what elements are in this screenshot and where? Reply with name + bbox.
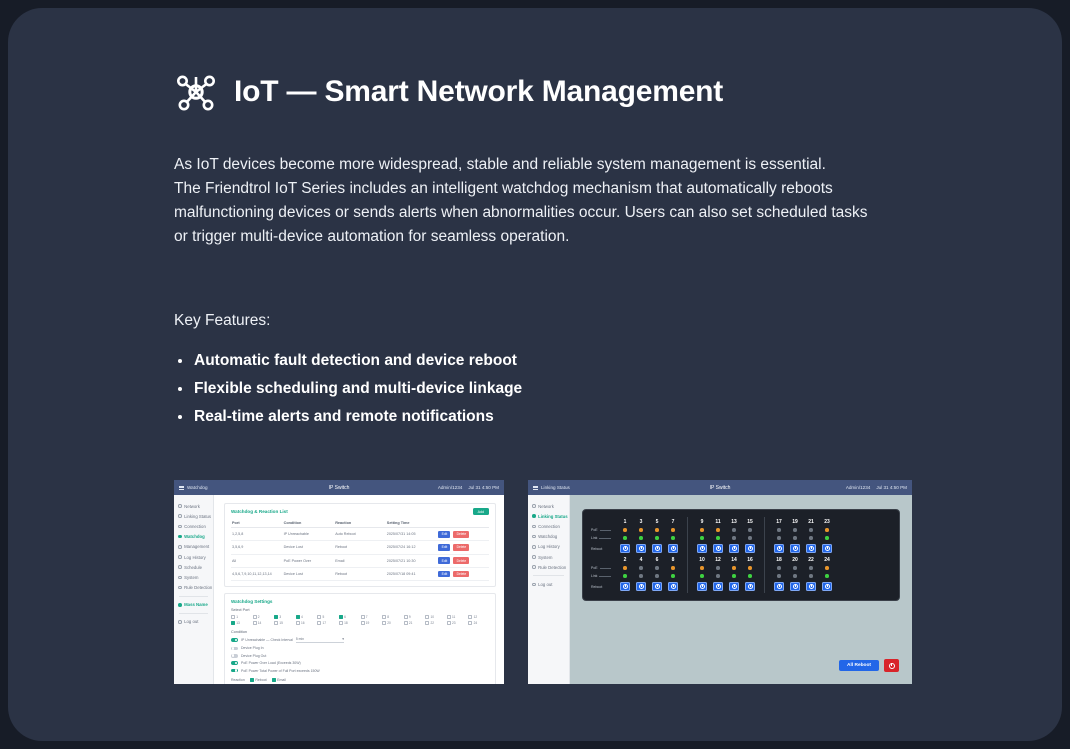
port-number: 20 xyxy=(387,621,391,625)
port-number: 2 xyxy=(624,557,627,563)
cell-reaction: Reboot xyxy=(334,541,386,554)
port-reboot-button[interactable] xyxy=(652,582,663,591)
poe-led xyxy=(700,528,704,532)
power-icon xyxy=(671,584,676,589)
checkbox-icon xyxy=(468,621,472,625)
s1-user: Admin/1234 xyxy=(438,485,463,490)
port-checkbox[interactable]: 6 xyxy=(339,615,360,619)
port-number: 23 xyxy=(824,519,830,525)
link-led xyxy=(777,536,781,540)
sidebar-item-watchdog[interactable]: Watchdog xyxy=(174,532,213,542)
system-icon xyxy=(532,555,536,559)
cell-time: 2025/07/24 16:12 xyxy=(386,541,438,554)
sidebar-item-watchdog[interactable]: Watchdog xyxy=(528,532,569,542)
power-icon xyxy=(777,584,782,589)
port-number: 7 xyxy=(366,615,368,619)
poe-led xyxy=(700,566,704,570)
s2-user: Admin/1234 xyxy=(846,485,871,490)
cell-reaction: Reboot xyxy=(334,567,386,580)
linking-icon xyxy=(532,514,536,518)
all-reboot-button[interactable]: All Reboot xyxy=(839,660,879,671)
checkbox-icon xyxy=(231,615,235,619)
reaction-option-reboot[interactable]: Reboot xyxy=(250,678,267,682)
port-reboot-button[interactable] xyxy=(745,582,756,591)
port-reboot-button[interactable] xyxy=(668,544,679,553)
power-icon xyxy=(825,546,830,551)
sidebar-item-label: Network xyxy=(538,504,554,509)
toggle-icon[interactable] xyxy=(231,638,238,642)
reaction-option-email[interactable]: Email xyxy=(272,678,286,682)
link-led xyxy=(793,536,797,540)
network-hub-icon xyxy=(174,70,218,114)
power-icon xyxy=(748,584,753,589)
link-led xyxy=(748,574,752,578)
checkbox-icon xyxy=(272,678,276,682)
table-row[interactable]: All PoE Power Over Email 2025/07/21 10:3… xyxy=(231,554,489,567)
port-number: 21 xyxy=(409,621,413,625)
cell-time: 2025/07/18 09:41 xyxy=(386,567,438,580)
port-number: 3 xyxy=(640,519,643,525)
link-led xyxy=(623,574,627,578)
power-icon xyxy=(732,584,737,589)
poe-led xyxy=(809,566,813,570)
condition-label-text: Device Plug In xyxy=(241,646,264,650)
sidebar-item-connection[interactable]: Connection xyxy=(528,521,569,531)
port-number: 10 xyxy=(430,615,434,619)
delete-button[interactable]: Delete xyxy=(453,544,469,551)
check-interval-select[interactable]: 5 min ▾ xyxy=(296,637,344,643)
rule-icon xyxy=(532,565,536,569)
slide-root: IoT — Smart Network Management As IoT de… xyxy=(8,8,1062,741)
condition-row-device-plug-out[interactable]: Device Plug Out xyxy=(231,654,489,658)
watchdog-table: Port Condition Reaction Setting Time 1,2… xyxy=(231,518,489,581)
sidebar-item-rule-detection[interactable]: Rule Detection xyxy=(174,583,213,593)
log-icon xyxy=(532,545,536,549)
port-checkbox[interactable]: 1 xyxy=(231,615,252,619)
sidebar-item-label: System xyxy=(184,575,198,580)
link-led xyxy=(655,536,659,540)
sidebar-item-label: Log out xyxy=(184,619,198,624)
cell-port: All xyxy=(231,554,283,567)
col-actions xyxy=(437,518,489,528)
s2-sidebar: Network Linking Status Connection Watchd… xyxy=(528,495,570,684)
checkbox-icon xyxy=(296,615,300,619)
sidebar-item-connection[interactable]: Connection xyxy=(174,521,213,531)
network-icon xyxy=(178,504,182,508)
checkbox-icon xyxy=(274,621,278,625)
key-features-title: Key Features: xyxy=(174,312,271,330)
port-reboot-button[interactable] xyxy=(774,544,785,553)
port-number: 12 xyxy=(715,557,721,563)
poe-led xyxy=(732,566,736,570)
port-number: 22 xyxy=(430,621,434,625)
port-number: 11 xyxy=(715,519,720,525)
port-checkbox[interactable]: 3 xyxy=(274,615,295,619)
poe-led xyxy=(777,566,781,570)
port-checkbox[interactable]: 10 xyxy=(425,615,446,619)
poe-led xyxy=(671,566,675,570)
s2-topbar-right: Admin/1234 Jul 31 4:50 PM xyxy=(846,485,907,490)
sidebar-item-label: Rule Detection xyxy=(184,585,212,590)
port-reboot-button[interactable] xyxy=(636,582,647,591)
toggle-icon[interactable] xyxy=(231,654,238,658)
checkbox-icon xyxy=(404,621,408,625)
poe-led xyxy=(825,566,829,570)
port-checkbox[interactable]: 17 xyxy=(317,621,338,625)
checkbox-icon xyxy=(447,615,451,619)
cell-reaction: Auto Reboot xyxy=(334,528,386,541)
poe-led xyxy=(825,528,829,532)
port-status-panel: PoE Link Reboot PoE Link Reboot 13572468… xyxy=(582,509,900,601)
s1-time: Jul 31 4:50 PM xyxy=(468,485,499,490)
col-port: Port xyxy=(231,518,283,528)
sidebar-item-label: Log History xyxy=(184,555,206,560)
sidebar-item-label: Log out xyxy=(538,582,552,587)
reaction-option-label: Reboot xyxy=(255,678,266,682)
sidebar-item-label: Linking Status xyxy=(538,514,568,519)
port-checkbox[interactable]: 24 xyxy=(468,621,489,625)
poe-led xyxy=(748,528,752,532)
key-feature-item: Real-time alerts and remote notification… xyxy=(174,403,674,431)
port-number: 22 xyxy=(808,557,814,563)
sidebar-item-label: Log History xyxy=(538,544,560,549)
sidebar-item-label: Management xyxy=(184,544,209,549)
port-checkbox[interactable]: 8 xyxy=(382,615,403,619)
col-reaction: Reaction xyxy=(334,518,386,528)
link-led xyxy=(777,574,781,578)
poe-led xyxy=(732,528,736,532)
sidebar-item-log-history[interactable]: Log History xyxy=(528,542,569,552)
power-icon xyxy=(623,584,628,589)
s2-main: PoE Link Reboot PoE Link Reboot 13572468… xyxy=(570,495,912,684)
condition-label-text: PoE Power Total Power of Full Port excee… xyxy=(241,669,320,673)
power-icon xyxy=(748,546,753,551)
port-group: 1719212318202224 xyxy=(764,517,841,593)
link-led xyxy=(809,536,813,540)
port-reboot-button[interactable] xyxy=(822,544,833,553)
s2-body: Network Linking Status Connection Watchd… xyxy=(528,495,912,684)
port-reboot-button[interactable] xyxy=(713,544,724,553)
condition-row-poe-total-power[interactable]: PoE Power Total Power of Full Port excee… xyxy=(231,669,489,673)
port-reboot-button[interactable] xyxy=(729,582,740,591)
network-icon xyxy=(532,504,536,508)
menu-icon[interactable] xyxy=(533,485,538,490)
sidebar-item-label: Linking Status xyxy=(184,514,211,519)
power-icon xyxy=(809,584,814,589)
sidebar-item-label: System xyxy=(538,555,552,560)
cell-port: 1,2,5,8 xyxy=(231,528,283,541)
edit-button[interactable]: Edit xyxy=(438,544,450,551)
checkbox-icon xyxy=(404,615,408,619)
port-number: 7 xyxy=(672,519,675,525)
checkbox-icon xyxy=(250,678,254,682)
link-led xyxy=(716,536,720,540)
port-reboot-button[interactable] xyxy=(697,544,708,553)
link-led xyxy=(732,536,736,540)
poe-led xyxy=(671,528,675,532)
port-number: 17 xyxy=(776,519,782,525)
link-led xyxy=(825,536,829,540)
port-reboot-button[interactable] xyxy=(790,544,801,553)
cell-time: 2025/07/31 14:05 xyxy=(386,528,438,541)
checkbox-icon xyxy=(425,621,429,625)
port-number: 19 xyxy=(792,519,798,525)
power-icon xyxy=(655,546,660,551)
chevron-down-icon: ▾ xyxy=(342,637,344,641)
sidebar-item-rule-detection[interactable]: Rule Detection xyxy=(528,562,569,572)
link-led xyxy=(809,574,813,578)
s2-topbar: Linking Status IP Switch Admin/1234 Jul … xyxy=(528,480,912,495)
port-group: 911131510121416 xyxy=(687,517,764,593)
port-number: 14 xyxy=(731,557,737,563)
poe-led xyxy=(655,566,659,570)
key-feature-item: Flexible scheduling and multi-device lin… xyxy=(174,375,674,403)
page-heading: IoT — Smart Network Management xyxy=(174,70,723,114)
toggle-icon[interactable] xyxy=(231,647,238,651)
s1-topbar-title: Watchdog xyxy=(187,485,208,490)
link-led xyxy=(748,536,752,540)
power-icon xyxy=(700,546,705,551)
port-number: 15 xyxy=(279,621,283,625)
s1-sidebar: Network Linking Status Connection Watchd… xyxy=(174,495,214,684)
sidebar-item-network[interactable]: Network xyxy=(174,501,213,511)
edit-button[interactable]: Edit xyxy=(438,557,450,564)
row-label-column: PoE Link Reboot PoE Link Reboot xyxy=(591,517,611,593)
intro-paragraph-1: As IoT devices become more widespread, s… xyxy=(174,153,880,177)
port-reboot-button[interactable] xyxy=(697,582,708,591)
port-reboot-button[interactable] xyxy=(745,544,756,553)
poe-led xyxy=(639,566,643,570)
edit-button[interactable]: Edit xyxy=(438,571,450,578)
cell-actions: Edit Delete xyxy=(437,554,489,567)
port-number: 4 xyxy=(640,557,643,563)
port-reboot-button[interactable] xyxy=(806,544,817,553)
reaction-label: Reaction xyxy=(231,678,245,682)
logout-icon xyxy=(532,583,536,587)
condition-label-text: PoE Power Over Load (Exceeds 30W) xyxy=(241,661,301,665)
port-reboot-button[interactable] xyxy=(636,544,647,553)
port-checkbox[interactable]: 11 xyxy=(447,615,468,619)
intro-paragraph-2: The Friendtrol IoT Series includes an in… xyxy=(174,177,880,249)
link-led xyxy=(793,574,797,578)
port-checkbox[interactable]: 13 xyxy=(231,621,252,625)
add-rule-button[interactable]: Add xyxy=(473,508,489,515)
condition-label-text: Device Plug Out xyxy=(241,654,266,658)
power-icon xyxy=(671,546,676,551)
s1-topbar: Watchdog IP Switch Admin/1234 Jul 31 4:5… xyxy=(174,480,504,495)
checkbox-icon xyxy=(339,615,343,619)
port-reboot-button[interactable] xyxy=(620,544,631,553)
sidebar-item-label: Watchdog xyxy=(538,534,557,539)
table-header-row: Port Condition Reaction Setting Time xyxy=(231,518,489,528)
sidebar-item-log-out[interactable]: Log out xyxy=(174,617,213,627)
poe-led xyxy=(623,528,627,532)
sidebar-item-system[interactable]: System xyxy=(528,552,569,562)
system-icon xyxy=(178,576,182,580)
sidebar-item-management[interactable]: Management xyxy=(174,542,213,552)
port-checkbox[interactable]: 5 xyxy=(317,615,338,619)
port-reboot-button[interactable] xyxy=(652,544,663,553)
power-button[interactable] xyxy=(884,659,899,672)
checkbox-icon xyxy=(231,621,235,625)
condition-row-poe-overload[interactable]: PoE Power Over Load (Exceeds 30W) xyxy=(231,661,489,665)
port-checkbox[interactable]: 23 xyxy=(447,621,468,625)
port-checkbox[interactable]: 9 xyxy=(404,615,425,619)
table-row[interactable]: 1,2,5,8 IP Unreachable Auto Reboot 2025/… xyxy=(231,528,489,541)
checkbox-icon xyxy=(382,621,386,625)
port-number: 11 xyxy=(452,615,455,619)
cell-actions: Edit Delete xyxy=(437,567,489,580)
port-checkbox[interactable]: 22 xyxy=(425,621,446,625)
s1-body: Network Linking Status Connection Watchd… xyxy=(174,495,504,684)
power-icon xyxy=(716,584,721,589)
port-checkbox[interactable]: 20 xyxy=(382,621,403,625)
poe-led xyxy=(777,528,781,532)
table-row[interactable]: 4,5,6,7,9,10,11,12,13,14 Device Lost Reb… xyxy=(231,567,489,580)
sidebar-item-linking-status[interactable]: Linking Status xyxy=(528,511,569,521)
port-checkbox[interactable]: 21 xyxy=(404,621,425,625)
port-reboot-button[interactable] xyxy=(790,582,801,591)
s2-topbar-left: Linking Status xyxy=(533,485,570,490)
table-row[interactable]: 3,5,6,9 Device Lost Reboot 2025/07/24 16… xyxy=(231,541,489,554)
port-number: 20 xyxy=(792,557,798,563)
checkbox-icon xyxy=(382,615,386,619)
connection-icon xyxy=(532,525,536,529)
port-reboot-button[interactable] xyxy=(774,582,785,591)
port-checkbox[interactable]: 7 xyxy=(361,615,382,619)
edit-button[interactable]: Edit xyxy=(438,531,450,538)
checkbox-icon xyxy=(274,615,278,619)
port-reboot-button[interactable] xyxy=(620,582,631,591)
watchdog-icon xyxy=(178,535,182,539)
col-setting-time: Setting Time xyxy=(386,518,438,528)
power-icon xyxy=(825,584,830,589)
port-number: 9 xyxy=(701,519,704,525)
cell-time: 2025/07/21 10:30 xyxy=(386,554,438,567)
port-number: 24 xyxy=(474,621,478,625)
port-number: 17 xyxy=(323,621,327,625)
port-number: 18 xyxy=(776,557,782,563)
s1-topbar-right: Admin/1234 Jul 31 4:50 PM xyxy=(438,485,499,490)
port-number: 21 xyxy=(808,519,814,525)
management-icon xyxy=(178,545,182,549)
power-icon xyxy=(700,584,705,589)
port-number: 4 xyxy=(301,615,303,619)
toggle-icon[interactable] xyxy=(231,661,238,665)
link-led xyxy=(639,574,643,578)
port-number: 5 xyxy=(656,519,659,525)
cell-actions: Edit Delete xyxy=(437,528,489,541)
watchdog-list-card: Add Watchdog & Reaction List Port Condit… xyxy=(224,503,496,587)
port-checkbox-grid: 123456789101112131415161718192021222324 xyxy=(231,615,489,626)
poe-led xyxy=(639,528,643,532)
poe-row-label: PoE xyxy=(591,526,611,534)
port-reboot-button[interactable] xyxy=(806,582,817,591)
condition-row-device-plug-in[interactable]: Device Plug In xyxy=(231,646,489,650)
power-icon xyxy=(809,546,814,551)
connection-icon xyxy=(178,525,182,529)
port-reboot-button[interactable] xyxy=(822,582,833,591)
port-checkbox[interactable]: 16 xyxy=(296,621,317,625)
link-led xyxy=(639,536,643,540)
sidebar-item-label: Schedule xyxy=(184,565,202,570)
delete-button[interactable]: Delete xyxy=(453,557,469,564)
sidebar-item-mass-name[interactable]: Mass Name xyxy=(174,600,213,610)
delete-button[interactable]: Delete xyxy=(453,531,469,538)
reboot-row-label: Reboot xyxy=(591,580,611,593)
col-condition: Condition xyxy=(283,518,335,528)
poe-led xyxy=(655,528,659,532)
log-icon xyxy=(178,555,182,559)
cell-condition: Device Lost xyxy=(283,567,335,580)
bottom-action-bar: All Reboot xyxy=(839,659,899,672)
port-number: 16 xyxy=(747,557,753,563)
watchdog-list-title: Watchdog & Reaction List xyxy=(231,509,489,514)
sidebar-item-network[interactable]: Network xyxy=(528,501,569,511)
sidebar-item-linking-status[interactable]: Linking Status xyxy=(174,511,213,521)
checkbox-icon xyxy=(253,615,257,619)
link-led xyxy=(732,574,736,578)
rule-icon xyxy=(178,586,182,590)
link-led xyxy=(825,574,829,578)
port-checkbox[interactable]: 14 xyxy=(253,621,274,625)
watchdog-settings-title: Watchdog Settings xyxy=(231,599,489,604)
checkbox-icon xyxy=(468,615,472,619)
link-led xyxy=(623,536,627,540)
port-reboot-button[interactable] xyxy=(729,544,740,553)
sidebar-item-system[interactable]: System xyxy=(174,572,213,582)
port-checkbox[interactable]: 15 xyxy=(274,621,295,625)
port-checkbox[interactable]: 19 xyxy=(361,621,382,625)
port-reboot-button[interactable] xyxy=(668,582,679,591)
port-reboot-button[interactable] xyxy=(713,582,724,591)
port-number: 9 xyxy=(409,615,411,619)
port-number: 1 xyxy=(236,615,238,619)
delete-button[interactable]: Delete xyxy=(453,571,469,578)
port-number: 3 xyxy=(279,615,281,619)
port-checkbox[interactable]: 12 xyxy=(468,615,489,619)
sidebar-item-label: Connection xyxy=(184,524,206,529)
checkbox-icon xyxy=(317,615,321,619)
port-number: 2 xyxy=(258,615,260,619)
menu-icon[interactable] xyxy=(179,485,184,490)
port-checkbox[interactable]: 2 xyxy=(253,615,274,619)
sidebar-item-log-history[interactable]: Log History xyxy=(174,552,213,562)
sidebar-item-log-out[interactable]: Log out xyxy=(528,579,569,589)
toggle-icon[interactable] xyxy=(231,669,238,673)
checkbox-icon xyxy=(339,621,343,625)
condition-row-ip-unreachable[interactable]: IP Unreachable — Check Interval 5 min ▾ xyxy=(231,637,489,643)
port-number: 6 xyxy=(344,615,346,619)
power-icon xyxy=(639,584,644,589)
cell-actions: Edit Delete xyxy=(437,541,489,554)
select-port-label: Select Port xyxy=(231,608,489,612)
port-number: 6 xyxy=(656,557,659,563)
link-led xyxy=(655,574,659,578)
port-checkbox[interactable]: 4 xyxy=(296,615,317,619)
condition-label: Condition xyxy=(231,630,489,634)
port-number: 14 xyxy=(258,621,262,625)
screenshot-watchdog: Watchdog IP Switch Admin/1234 Jul 31 4:5… xyxy=(174,480,504,684)
port-checkbox[interactable]: 18 xyxy=(339,621,360,625)
watchdog-settings-card: Watchdog Settings Select Port 1234567891… xyxy=(224,593,496,684)
power-icon xyxy=(732,546,737,551)
port-number: 19 xyxy=(366,621,370,625)
power-icon xyxy=(655,584,660,589)
link-row-label: Link xyxy=(591,572,611,580)
sidebar-item-schedule[interactable]: Schedule xyxy=(174,562,213,572)
power-icon xyxy=(639,546,644,551)
